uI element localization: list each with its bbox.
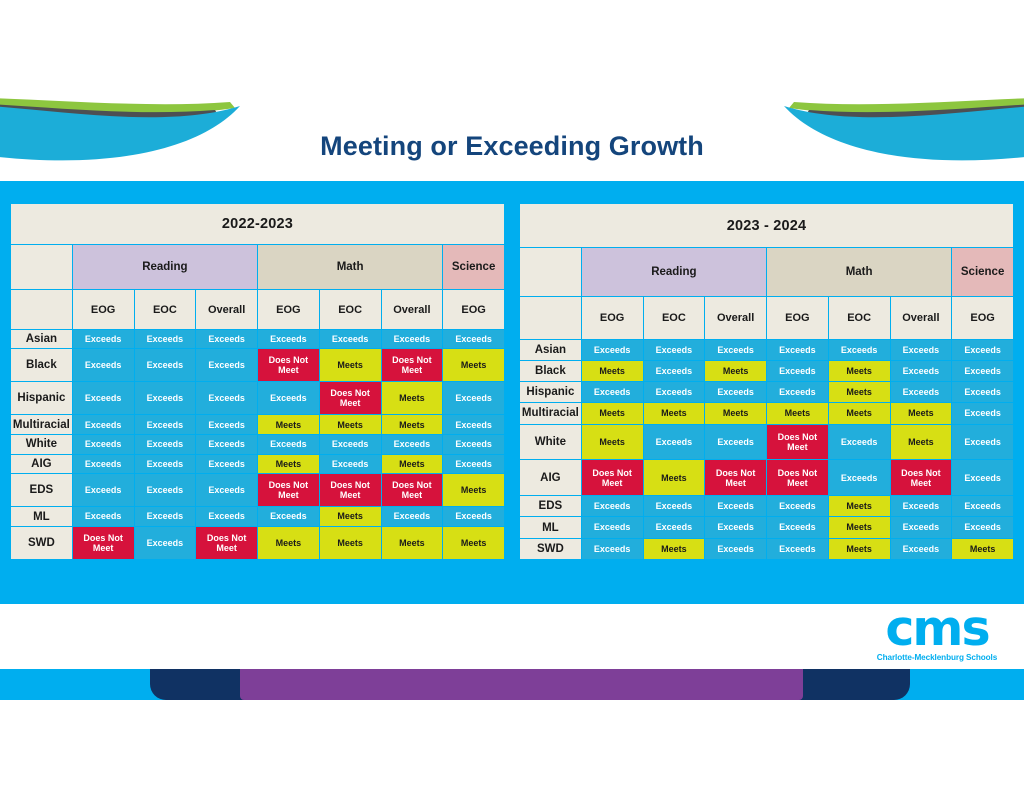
- page-title: Meeting or Exceeding Growth: [320, 131, 704, 162]
- growth-cell: Does Not Meet: [582, 460, 643, 495]
- growth-cell: Exceeds: [73, 382, 134, 414]
- growth-cell: Exceeds: [891, 539, 952, 559]
- growth-cell: Exceeds: [443, 382, 504, 414]
- table-subject-header-row: Reading Math Science: [520, 248, 1013, 296]
- growth-cell: Exceeds: [135, 527, 196, 559]
- growth-cell: Meets: [443, 527, 504, 559]
- growth-cell: Meets: [258, 415, 319, 434]
- growth-cell: Exceeds: [705, 340, 766, 360]
- table-row: MultiracialExceedsExceedsExceedsMeetsMee…: [11, 415, 504, 434]
- row-label-aig: AIG: [520, 460, 581, 495]
- growth-cell: Does Not Meet: [258, 474, 319, 506]
- metric-header: EOG: [767, 297, 828, 339]
- growth-cell: Meets: [644, 539, 705, 559]
- growth-cell: Exceeds: [767, 496, 828, 516]
- growth-cell: Exceeds: [73, 349, 134, 381]
- growth-cell: Exceeds: [891, 382, 952, 402]
- growth-cell: Exceeds: [196, 382, 257, 414]
- growth-table-2023-2024-wrapper: 2023 - 2024 Reading Math Science EOG EOC…: [519, 203, 1014, 560]
- growth-cell: Exceeds: [73, 415, 134, 434]
- growth-cell: Exceeds: [952, 425, 1013, 460]
- growth-cell: Exceeds: [196, 507, 257, 526]
- row-label-multiracial: Multiracial: [11, 415, 72, 434]
- growth-cell: Exceeds: [196, 415, 257, 434]
- corner-cell: [520, 248, 581, 296]
- slide-root: Meeting or Exceeding Growth 2022-2023 Re…: [0, 0, 1024, 791]
- growth-cell: Exceeds: [258, 507, 319, 526]
- table-row: EDSExceedsExceedsExceedsExceedsMeetsExce…: [520, 496, 1013, 516]
- growth-cell: Exceeds: [443, 435, 504, 454]
- growth-cell: Exceeds: [891, 340, 952, 360]
- growth-cell: Meets: [320, 349, 381, 381]
- growth-cell: Exceeds: [258, 382, 319, 414]
- metric-header: EOC: [320, 290, 381, 328]
- metric-header: Overall: [891, 297, 952, 339]
- cms-logo-mark: cms: [868, 604, 1006, 653]
- growth-cell: Meets: [829, 361, 890, 381]
- year-title: 2022-2023: [11, 204, 504, 244]
- growth-cell: Exceeds: [382, 330, 443, 349]
- subject-header-math: Math: [258, 245, 442, 289]
- growth-table-2023-2024-body: AsianExceedsExceedsExceedsExceedsExceeds…: [520, 340, 1013, 559]
- growth-cell: Meets: [258, 527, 319, 559]
- growth-cell: Meets: [320, 507, 381, 526]
- row-label-ml: ML: [11, 507, 72, 526]
- growth-cell: Exceeds: [135, 455, 196, 474]
- table-row: HispanicExceedsExceedsExceedsExceedsDoes…: [11, 382, 504, 414]
- growth-cell: Exceeds: [196, 455, 257, 474]
- cms-logo: cms Charlotte-Mecklenburg Schools: [868, 604, 1006, 662]
- growth-cell: Meets: [952, 539, 1013, 559]
- growth-cell: Exceeds: [644, 517, 705, 537]
- metric-header: Overall: [382, 290, 443, 328]
- growth-cell: Does Not Meet: [767, 460, 828, 495]
- growth-cell: Exceeds: [196, 435, 257, 454]
- growth-cell: Exceeds: [891, 517, 952, 537]
- growth-cell: Does Not Meet: [73, 527, 134, 559]
- year-title: 2023 - 2024: [520, 204, 1013, 247]
- growth-table-2022-2023-body: AsianExceedsExceedsExceedsExceedsExceeds…: [11, 330, 504, 559]
- growth-cell: Exceeds: [705, 539, 766, 559]
- growth-cell: Exceeds: [135, 474, 196, 506]
- row-label-asian: Asian: [11, 330, 72, 349]
- growth-cell: Exceeds: [73, 507, 134, 526]
- growth-cell: Exceeds: [135, 382, 196, 414]
- growth-cell: Does Not Meet: [320, 474, 381, 506]
- table-row: SWDDoes Not MeetExceedsDoes Not MeetMeet…: [11, 527, 504, 559]
- growth-cell: Exceeds: [582, 517, 643, 537]
- subject-header-reading: Reading: [582, 248, 766, 296]
- row-label-black: Black: [11, 349, 72, 381]
- metric-header: Overall: [705, 297, 766, 339]
- growth-cell: Exceeds: [320, 435, 381, 454]
- growth-cell: Meets: [320, 527, 381, 559]
- table-row: MLExceedsExceedsExceedsExceedsMeetsExcee…: [520, 517, 1013, 537]
- table-row: MLExceedsExceedsExceedsExceedsMeetsExcee…: [11, 507, 504, 526]
- growth-cell: Exceeds: [705, 517, 766, 537]
- growth-cell: Does Not Meet: [705, 460, 766, 495]
- growth-cell: Meets: [582, 403, 643, 423]
- row-label-asian: Asian: [520, 340, 581, 360]
- growth-cell: Meets: [320, 415, 381, 434]
- growth-cell: Exceeds: [952, 340, 1013, 360]
- growth-cell: Exceeds: [196, 330, 257, 349]
- metric-header: EOC: [644, 297, 705, 339]
- growth-cell: Exceeds: [258, 435, 319, 454]
- metric-header: EOG: [258, 290, 319, 328]
- growth-cell: Exceeds: [829, 425, 890, 460]
- growth-cell: Exceeds: [644, 496, 705, 516]
- growth-cell: Meets: [582, 425, 643, 460]
- row-label-multiracial: Multiracial: [520, 403, 581, 423]
- growth-cell: Exceeds: [767, 340, 828, 360]
- table-row: BlackExceedsExceedsExceedsDoes Not MeetM…: [11, 349, 504, 381]
- growth-cell: Exceeds: [382, 507, 443, 526]
- growth-cell: Exceeds: [705, 382, 766, 402]
- growth-cell: Exceeds: [443, 415, 504, 434]
- table-year-header-row: 2023 - 2024: [520, 204, 1013, 247]
- growth-cell: Exceeds: [767, 517, 828, 537]
- metric-header: EOG: [73, 290, 134, 328]
- growth-cell: Exceeds: [582, 382, 643, 402]
- growth-cell: Does Not Meet: [891, 460, 952, 495]
- row-label-swd: SWD: [11, 527, 72, 559]
- growth-cell: Meets: [891, 403, 952, 423]
- growth-cell: Meets: [829, 539, 890, 559]
- corner-cell: [11, 290, 72, 328]
- growth-cell: Meets: [258, 455, 319, 474]
- growth-cell: Meets: [705, 361, 766, 381]
- subject-header-reading: Reading: [73, 245, 257, 289]
- table-year-header-row: 2022-2023: [11, 204, 504, 244]
- growth-cell: Meets: [382, 382, 443, 414]
- table-row: AsianExceedsExceedsExceedsExceedsExceeds…: [520, 340, 1013, 360]
- growth-cell: Meets: [891, 425, 952, 460]
- growth-cell: Meets: [767, 403, 828, 423]
- row-label-eds: EDS: [520, 496, 581, 516]
- growth-table-2023-2024: 2023 - 2024 Reading Math Science EOG EOC…: [519, 203, 1014, 560]
- growth-cell: Exceeds: [73, 474, 134, 506]
- row-label-hispanic: Hispanic: [520, 382, 581, 402]
- growth-cell: Exceeds: [135, 349, 196, 381]
- growth-cell: Exceeds: [382, 435, 443, 454]
- growth-cell: Meets: [644, 403, 705, 423]
- growth-cell: Exceeds: [767, 361, 828, 381]
- growth-table-2022-2023-wrapper: 2022-2023 Reading Math Science EOG EOC O…: [10, 203, 505, 560]
- growth-cell: Exceeds: [705, 496, 766, 516]
- subject-header-science: Science: [443, 245, 504, 289]
- growth-cell: Exceeds: [73, 330, 134, 349]
- corner-cell: [11, 245, 72, 289]
- corner-cell: [520, 297, 581, 339]
- growth-cell: Meets: [829, 517, 890, 537]
- growth-cell: Exceeds: [135, 415, 196, 434]
- table-row: WhiteExceedsExceedsExceedsExceedsExceeds…: [11, 435, 504, 454]
- growth-cell: Exceeds: [582, 539, 643, 559]
- row-label-aig: AIG: [11, 455, 72, 474]
- growth-cell: Does Not Meet: [767, 425, 828, 460]
- subject-header-math: Math: [767, 248, 951, 296]
- table-row: SWDExceedsMeetsExceedsExceedsMeetsExceed…: [520, 539, 1013, 559]
- table-row: AIGDoes Not MeetMeetsDoes Not MeetDoes N…: [520, 460, 1013, 495]
- row-label-white: White: [520, 425, 581, 460]
- growth-cell: Exceeds: [952, 460, 1013, 495]
- growth-cell: Exceeds: [767, 382, 828, 402]
- growth-cell: Exceeds: [952, 517, 1013, 537]
- table-row: EDSExceedsExceedsExceedsDoes Not MeetDoe…: [11, 474, 504, 506]
- growth-cell: Meets: [829, 403, 890, 423]
- metric-header: EOG: [952, 297, 1013, 339]
- row-label-ml: ML: [520, 517, 581, 537]
- growth-cell: Exceeds: [258, 330, 319, 349]
- growth-cell: Exceeds: [196, 349, 257, 381]
- growth-cell: Exceeds: [829, 340, 890, 360]
- growth-cell: Exceeds: [644, 340, 705, 360]
- metric-header: Overall: [196, 290, 257, 328]
- metric-header: EOC: [829, 297, 890, 339]
- growth-cell: Exceeds: [891, 361, 952, 381]
- growth-cell: Exceeds: [320, 455, 381, 474]
- growth-cell: Meets: [382, 527, 443, 559]
- tables-container: 2022-2023 Reading Math Science EOG EOC O…: [0, 181, 1024, 582]
- growth-cell: Meets: [705, 403, 766, 423]
- growth-cell: Exceeds: [135, 435, 196, 454]
- growth-cell: Does Not Meet: [382, 474, 443, 506]
- metric-header: EOG: [443, 290, 504, 328]
- table-row: AIGExceedsExceedsExceedsMeetsExceedsMeet…: [11, 455, 504, 474]
- growth-cell: Meets: [382, 415, 443, 434]
- growth-cell: Meets: [382, 455, 443, 474]
- table-row: MultiracialMeetsMeetsMeetsMeetsMeetsMeet…: [520, 403, 1013, 423]
- growth-cell: Exceeds: [443, 507, 504, 526]
- growth-cell: Exceeds: [135, 507, 196, 526]
- growth-cell: Exceeds: [582, 496, 643, 516]
- footer-bar-purple: [240, 669, 803, 700]
- table-metric-header-row: EOG EOC Overall EOG EOC Overall EOG: [520, 297, 1013, 339]
- growth-cell: Exceeds: [644, 361, 705, 381]
- growth-cell: Exceeds: [952, 382, 1013, 402]
- growth-cell: Meets: [443, 474, 504, 506]
- growth-cell: Meets: [829, 496, 890, 516]
- title-bar: Meeting or Exceeding Growth: [0, 120, 1024, 172]
- growth-cell: Does Not Meet: [320, 382, 381, 414]
- growth-cell: Meets: [829, 382, 890, 402]
- growth-cell: Exceeds: [952, 361, 1013, 381]
- growth-cell: Exceeds: [73, 455, 134, 474]
- growth-cell: Does Not Meet: [258, 349, 319, 381]
- row-label-hispanic: Hispanic: [11, 382, 72, 414]
- row-label-white: White: [11, 435, 72, 454]
- growth-table-2022-2023: 2022-2023 Reading Math Science EOG EOC O…: [10, 203, 505, 560]
- growth-cell: Does Not Meet: [196, 527, 257, 559]
- growth-cell: Exceeds: [644, 382, 705, 402]
- growth-cell: Exceeds: [443, 330, 504, 349]
- table-row: BlackMeetsExceedsMeetsExceedsMeetsExceed…: [520, 361, 1013, 381]
- growth-cell: Meets: [443, 349, 504, 381]
- growth-cell: Does Not Meet: [382, 349, 443, 381]
- growth-cell: Exceeds: [952, 496, 1013, 516]
- growth-cell: Exceeds: [135, 330, 196, 349]
- cms-logo-subtitle: Charlotte-Mecklenburg Schools: [868, 654, 1006, 662]
- subject-header-science: Science: [952, 248, 1013, 296]
- metric-header: EOG: [582, 297, 643, 339]
- row-label-eds: EDS: [11, 474, 72, 506]
- growth-cell: Meets: [582, 361, 643, 381]
- growth-cell: Meets: [644, 460, 705, 495]
- growth-cell: Exceeds: [952, 403, 1013, 423]
- row-label-black: Black: [520, 361, 581, 381]
- growth-cell: Exceeds: [320, 330, 381, 349]
- growth-cell: Exceeds: [73, 435, 134, 454]
- growth-cell: Exceeds: [196, 474, 257, 506]
- growth-cell: Exceeds: [767, 539, 828, 559]
- growth-cell: Exceeds: [582, 340, 643, 360]
- panel-bottom-strip: [0, 582, 1024, 604]
- table-metric-header-row: EOG EOC Overall EOG EOC Overall EOG: [11, 290, 504, 328]
- table-row: AsianExceedsExceedsExceedsExceedsExceeds…: [11, 330, 504, 349]
- table-subject-header-row: Reading Math Science: [11, 245, 504, 289]
- growth-cell: Exceeds: [705, 425, 766, 460]
- metric-header: EOC: [135, 290, 196, 328]
- growth-cell: Exceeds: [829, 460, 890, 495]
- table-row: HispanicExceedsExceedsExceedsExceedsMeet…: [520, 382, 1013, 402]
- growth-cell: Exceeds: [644, 425, 705, 460]
- table-row: WhiteMeetsExceedsExceedsDoes Not MeetExc…: [520, 425, 1013, 460]
- growth-cell: Exceeds: [891, 496, 952, 516]
- row-label-swd: SWD: [520, 539, 581, 559]
- growth-cell: Exceeds: [443, 455, 504, 474]
